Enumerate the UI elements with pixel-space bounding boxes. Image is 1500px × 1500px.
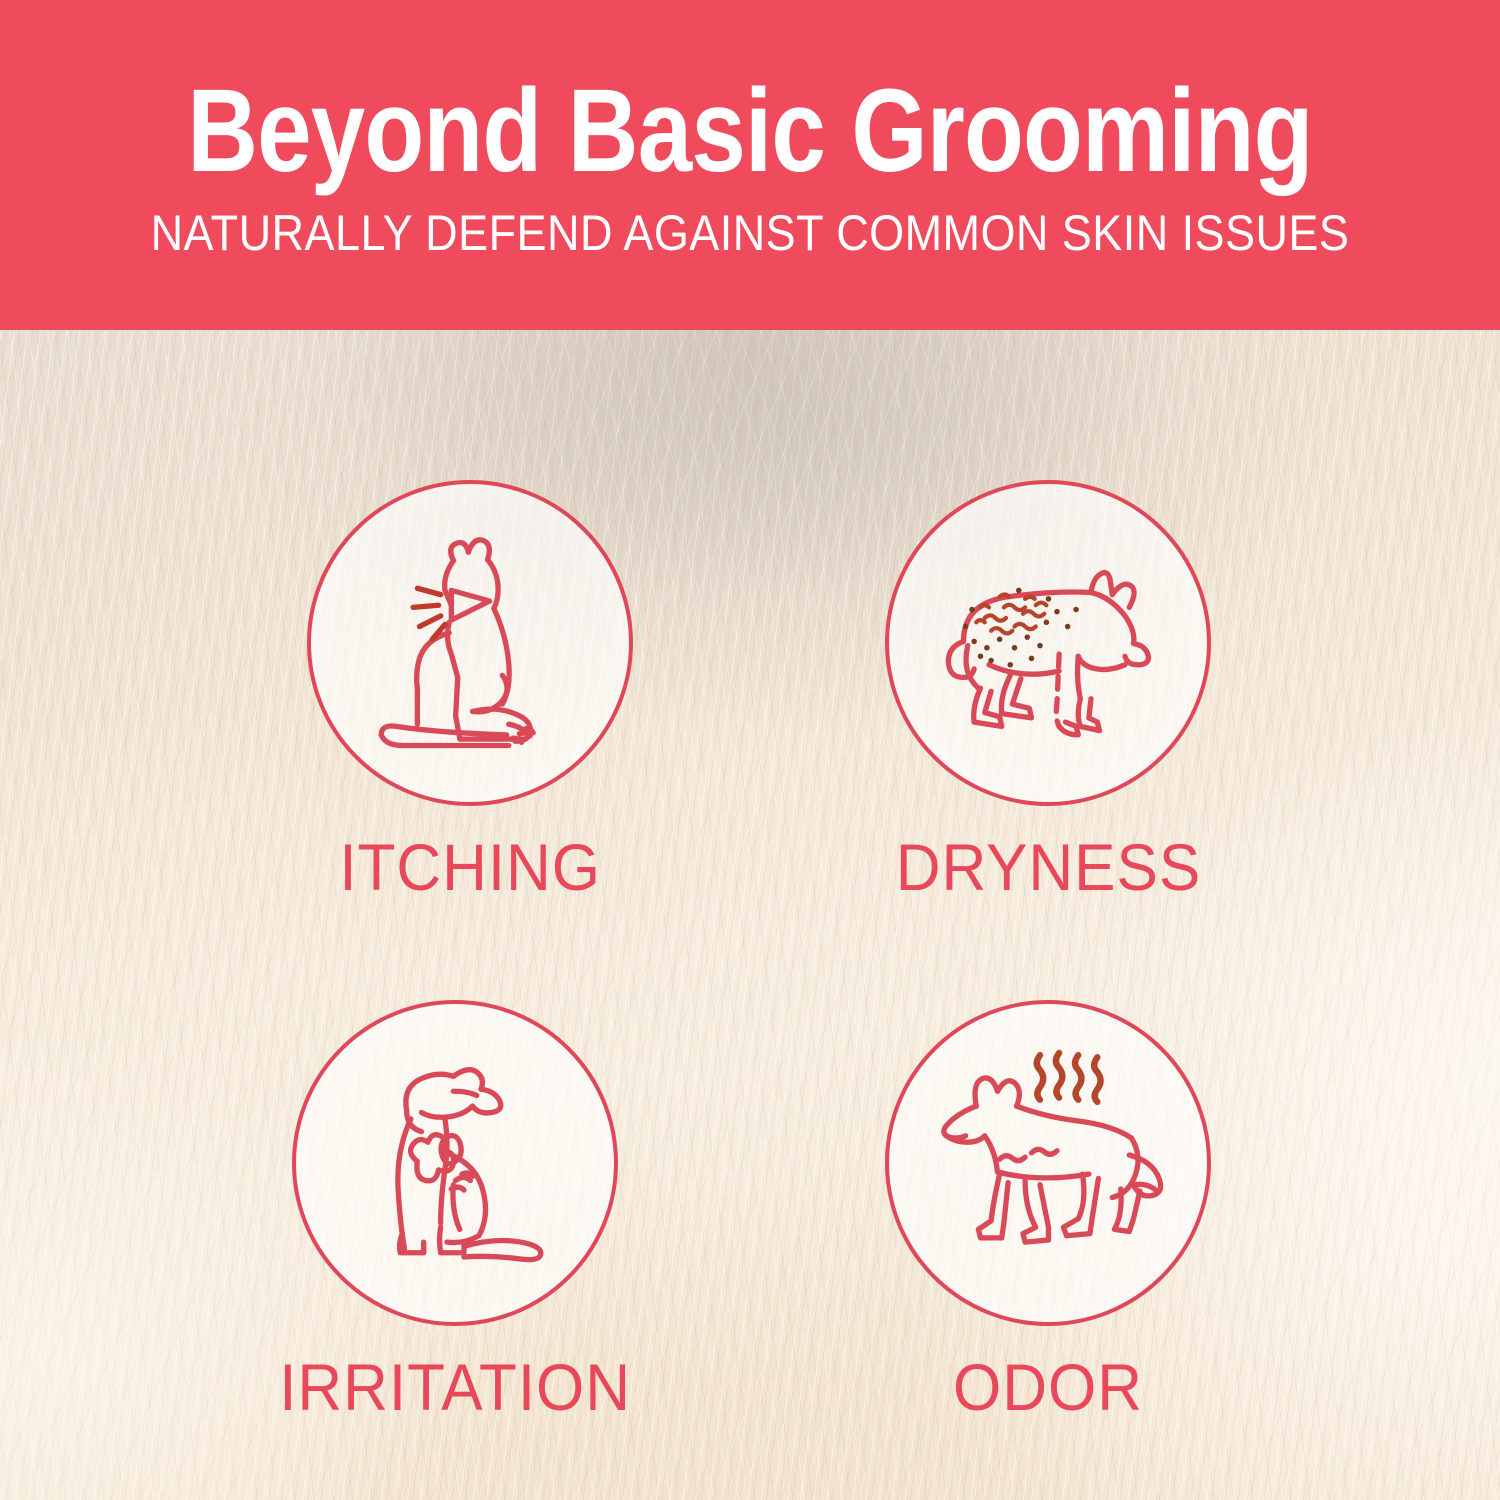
dog-smell-icon [921, 1036, 1176, 1291]
benefit-icon-circle [885, 1000, 1211, 1326]
benefit-icon-circle [885, 480, 1211, 806]
benefit-item-irritation: IRRITATION [245, 1000, 665, 1420]
benefit-item-dryness: DRYNESS [838, 480, 1258, 900]
dog-irritated-skin-icon [328, 1036, 583, 1291]
benefits-grid: ITCHING [0, 330, 1500, 1500]
poster-canvas: Beyond Basic Grooming NATURALLY DEFEND A… [0, 0, 1500, 1500]
benefit-item-itching: ITCHING [260, 480, 680, 900]
benefit-icon-circle [292, 1000, 618, 1326]
page-subtitle: NATURALLY DEFEND AGAINST COMMON SKIN ISS… [151, 208, 1350, 258]
benefit-label: ITCHING [339, 834, 601, 900]
header-banner: Beyond Basic Grooming NATURALLY DEFEND A… [0, 0, 1500, 330]
benefit-label: IRRITATION [279, 1354, 631, 1420]
benefit-icon-circle [307, 480, 633, 806]
dog-scratching-icon [343, 516, 598, 771]
page-title: Beyond Basic Grooming [187, 72, 1312, 190]
dog-dandruff-icon [921, 516, 1176, 771]
benefit-label: DRYNESS [895, 834, 1200, 900]
benefit-label: ODOR [953, 1354, 1143, 1420]
benefit-item-odor: ODOR [838, 1000, 1258, 1420]
